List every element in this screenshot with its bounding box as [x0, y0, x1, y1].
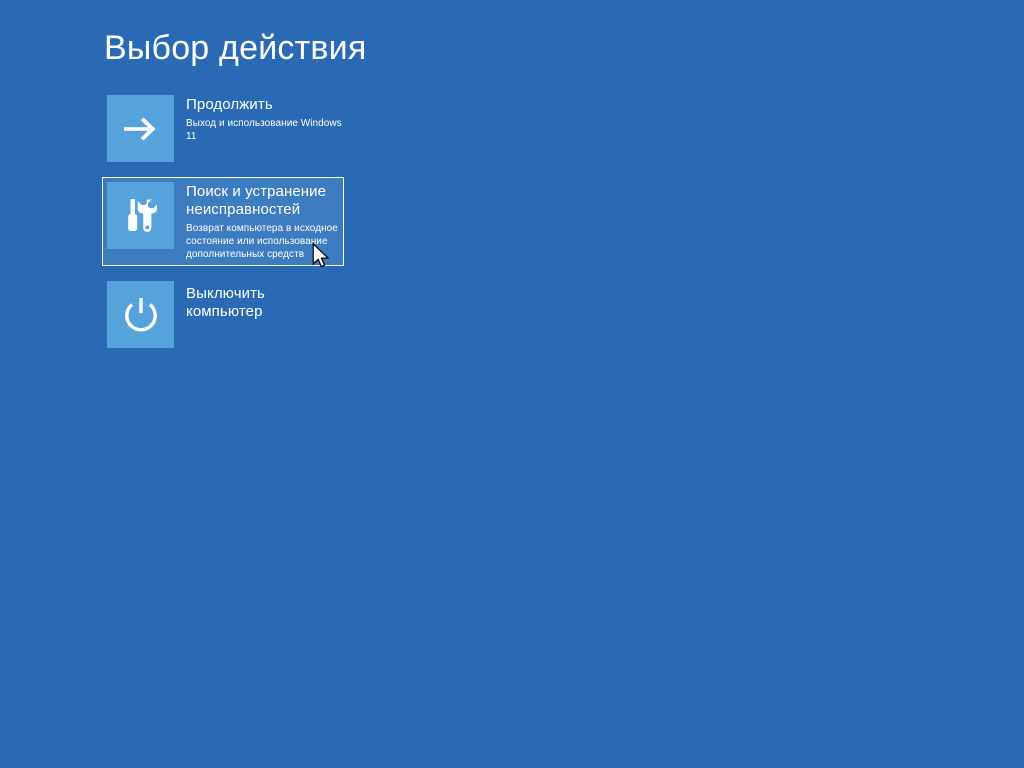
option-troubleshoot-subtitle: Возврат компьютера в исходное состояние … — [186, 222, 343, 261]
option-troubleshoot-text: Поиск и устранение неисправностей Возвра… — [174, 182, 343, 261]
recovery-screen: Выбор действия Продолжить Выход и исполь… — [0, 0, 1024, 768]
option-shutdown-text: Выключить компьютер — [174, 281, 343, 321]
option-continue[interactable]: Продолжить Выход и использование Windows… — [102, 90, 344, 167]
option-shutdown[interactable]: Выключить компьютер — [102, 276, 344, 353]
option-continue-subtitle: Выход и использование Windows 11 — [186, 117, 343, 143]
options-list: Продолжить Выход и использование Windows… — [102, 90, 522, 362]
option-continue-tile — [107, 95, 174, 162]
page-title: Выбор действия — [104, 27, 366, 69]
screwdriver-wrench-icon — [122, 196, 160, 236]
option-troubleshoot[interactable]: Поиск и устранение неисправностей Возвра… — [102, 177, 344, 266]
option-troubleshoot-title: Поиск и устранение неисправностей — [186, 183, 343, 219]
option-shutdown-title: Выключить компьютер — [186, 285, 343, 321]
option-continue-title: Продолжить — [186, 96, 343, 114]
arrow-right-icon — [121, 112, 161, 146]
option-troubleshoot-tile — [107, 182, 174, 249]
option-continue-text: Продолжить Выход и использование Windows… — [174, 95, 343, 143]
option-shutdown-tile — [107, 281, 174, 348]
power-icon — [121, 295, 161, 335]
